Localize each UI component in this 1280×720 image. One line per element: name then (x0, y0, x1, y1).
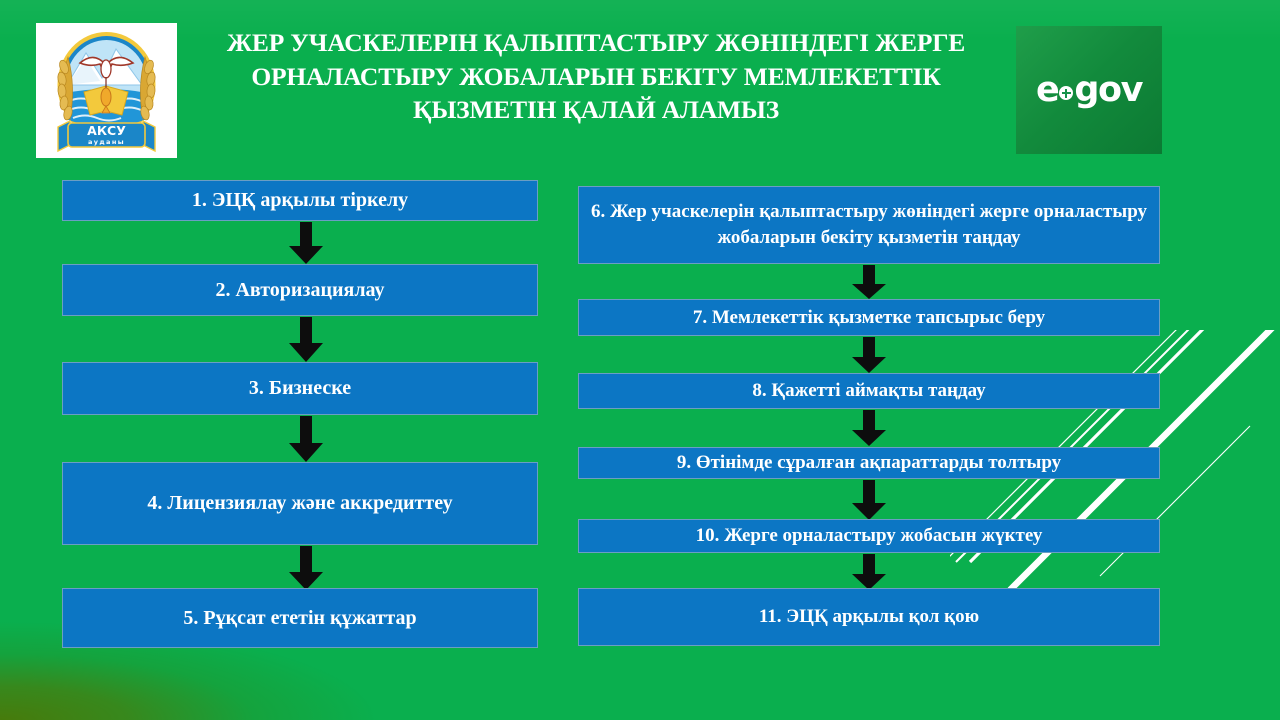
egov-logo: e gov (1016, 26, 1162, 154)
flow-step-1-label: 1. ЭЦҚ арқылы тіркелу (192, 188, 408, 213)
page-title: ЖЕР УЧАСКЕЛЕРІН ҚАЛЫПТАСТЫРУ ЖӨНІНДЕГІ Ж… (186, 26, 1006, 127)
flow-step-10-label: 10. Жерге орналастыру жобасын жүктеу (696, 524, 1043, 548)
flow-arrow-3-to-4 (286, 416, 326, 462)
flow-step-2-label: 2. Авторизациялау (215, 278, 384, 303)
flow-step-2[interactable]: 2. Авторизациялау (62, 264, 538, 316)
flow-step-4-label: 4. Лицензиялау және аккредиттеу (147, 491, 452, 516)
flow-step-7[interactable]: 7. Мемлекеттік қызметке тапсырыс беру (578, 299, 1160, 336)
egov-dot-icon (1059, 86, 1073, 100)
flow-step-8[interactable]: 8. Қажетті аймақты таңдау (578, 373, 1160, 409)
flow-arrow-4-to-5 (286, 546, 326, 590)
flow-arrow-9-to-10 (849, 480, 889, 520)
flow-step-1[interactable]: 1. ЭЦҚ арқылы тіркелу (62, 180, 538, 221)
egov-text-left: e (1036, 73, 1058, 108)
egov-wordmark: e gov (1036, 73, 1142, 108)
aksu-district-emblem: АКСУ ауданы (36, 23, 177, 158)
emblem-banner-main: АКСУ (87, 123, 126, 138)
flow-step-8-label: 8. Қажетті аймақты таңдау (752, 379, 985, 403)
flow-step-5[interactable]: 5. Рұқсат ететін құжаттар (62, 588, 538, 648)
flow-step-9-label: 9. Өтінімде сұралған ақпараттарды толтыр… (677, 451, 1061, 475)
flow-arrow-2-to-3 (286, 317, 326, 362)
flow-step-11-label: 11. ЭЦҚ арқылы қол қою (759, 605, 979, 629)
flow-arrow-6-to-7 (849, 265, 889, 299)
flow-step-6-label: 6. Жер учаскелерін қалыптастыру жөніндег… (589, 199, 1149, 250)
emblem-banner-sub: ауданы (88, 138, 125, 146)
flow-arrow-8-to-9 (849, 410, 889, 446)
flow-arrow-1-to-2 (286, 222, 326, 264)
flow-arrow-10-to-11 (849, 554, 889, 590)
slide-canvas: АКСУ ауданы ЖЕР УЧАСКЕЛЕРІН ҚАЛЫПТАСТЫРУ… (0, 0, 1280, 720)
egov-text-right: gov (1074, 73, 1142, 108)
flow-step-4[interactable]: 4. Лицензиялау және аккредиттеу (62, 462, 538, 545)
flow-step-11[interactable]: 11. ЭЦҚ арқылы қол қою (578, 588, 1160, 646)
flow-step-5-label: 5. Рұқсат ететін құжаттар (183, 606, 416, 631)
flow-step-7-label: 7. Мемлекеттік қызметке тапсырыс беру (693, 306, 1045, 330)
flow-step-6[interactable]: 6. Жер учаскелерін қалыптастыру жөніндег… (578, 186, 1160, 264)
flow-step-10[interactable]: 10. Жерге орналастыру жобасын жүктеу (578, 519, 1160, 553)
flow-step-3[interactable]: 3. Бизнеске (62, 362, 538, 415)
flow-step-9[interactable]: 9. Өтінімде сұралған ақпараттарды толтыр… (578, 447, 1160, 479)
flow-step-3-label: 3. Бизнеске (249, 376, 351, 401)
flow-arrow-7-to-8 (849, 337, 889, 373)
